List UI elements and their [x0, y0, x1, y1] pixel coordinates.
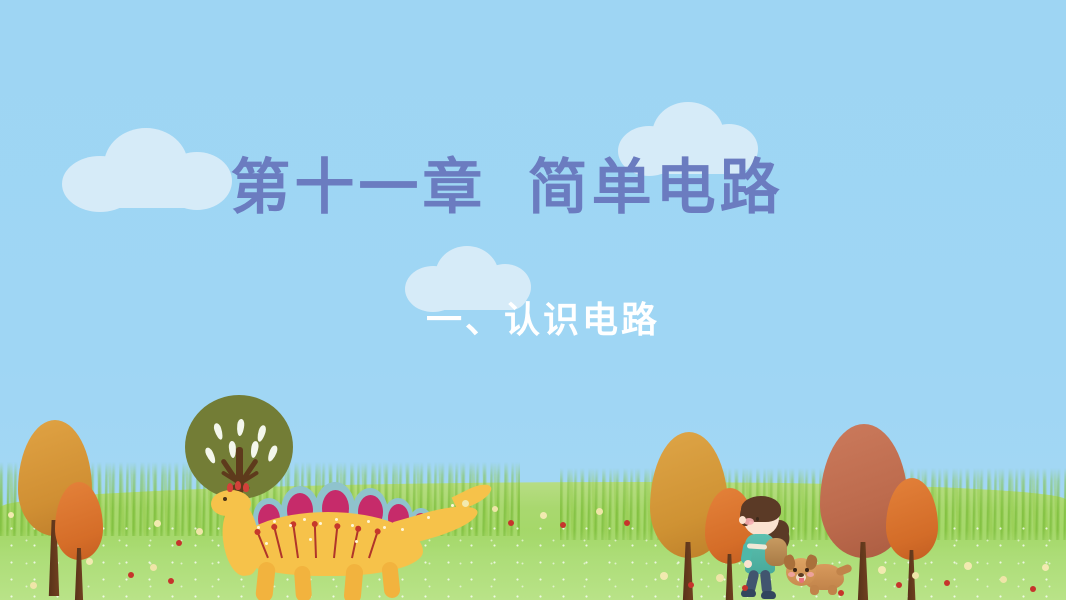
meadow-berry — [964, 562, 972, 570]
meadow-berry — [716, 574, 724, 582]
presentation-slide: 第十一章 简单电路 一、认识电路 — [0, 0, 1066, 600]
dog-cheek — [807, 572, 814, 577]
dog-leg — [828, 585, 837, 595]
meadow-berry — [154, 520, 161, 527]
dino-leg — [294, 565, 312, 600]
meadow-berry — [86, 558, 93, 565]
meadow-berry — [462, 500, 469, 507]
dino-eye — [223, 497, 227, 501]
meadow-berry — [560, 522, 566, 528]
meadow-berry — [688, 582, 694, 588]
meadow-berry — [1042, 564, 1049, 571]
meadow-berry — [128, 572, 134, 578]
dog-nose — [798, 573, 804, 577]
girl-shoe — [761, 591, 776, 599]
meadow-berry — [168, 578, 174, 584]
meadow-berry — [150, 564, 157, 571]
meadow-berry — [838, 590, 844, 596]
girl-nose — [739, 516, 746, 524]
meadow-berry — [508, 520, 514, 526]
dino-leg — [255, 561, 276, 600]
dog-tongue — [799, 578, 804, 583]
girl-eye — [756, 517, 759, 521]
meadow-berry — [196, 528, 203, 535]
dog-leg — [810, 585, 819, 595]
meadow-berry — [878, 566, 886, 574]
meadow-berry — [596, 508, 603, 515]
meadow-berry — [540, 512, 547, 519]
page-title: 第十一章 简单电路 — [0, 155, 1066, 221]
girl-hand — [744, 560, 752, 568]
tree-far-left-small — [55, 482, 103, 600]
meadow-berry — [624, 520, 630, 526]
meadow-berry — [1000, 576, 1007, 583]
meadow-berry — [1030, 586, 1036, 592]
meadow-berry — [660, 572, 668, 580]
tree-crown — [886, 478, 938, 560]
meadow-berry — [896, 582, 902, 588]
meadow-berry — [912, 572, 919, 579]
dino-crest — [227, 483, 233, 492]
tree-right-rust-small — [886, 478, 938, 600]
dino-leg — [343, 563, 363, 600]
dog-cheek — [788, 572, 795, 577]
page-subtitle: 一、认识电路 — [0, 300, 1066, 340]
dog-eye — [793, 568, 797, 572]
dino-crest — [243, 483, 249, 492]
meadow-berry — [944, 580, 950, 586]
dino-head — [211, 490, 251, 516]
dino-crest — [235, 481, 241, 490]
meadow-berry — [742, 585, 748, 591]
meadow-berry — [176, 540, 182, 546]
meadow-berry — [8, 512, 14, 518]
meadow-berry — [492, 506, 498, 512]
dinosaur — [205, 470, 485, 600]
meadow-berry — [30, 582, 37, 589]
